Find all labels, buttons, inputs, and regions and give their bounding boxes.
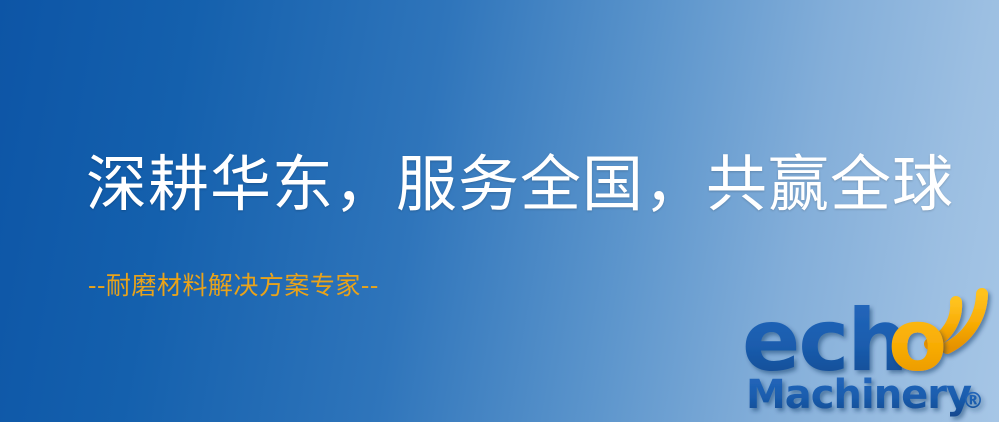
registered-trademark-icon: ® xyxy=(962,389,984,414)
page-title: 深耕华东，服务全国，共赢全球 xyxy=(86,152,954,218)
echo-machinery-logo[interactable]: ech o Machinery ® xyxy=(742,288,999,422)
hero-banner: 深耕华东，服务全国，共赢全球 --耐磨材料解决方案专家-- xyxy=(0,0,999,422)
page-subtitle: --耐磨材料解决方案专家-- xyxy=(88,266,379,302)
logo-tagline: Machinery xyxy=(746,372,972,418)
